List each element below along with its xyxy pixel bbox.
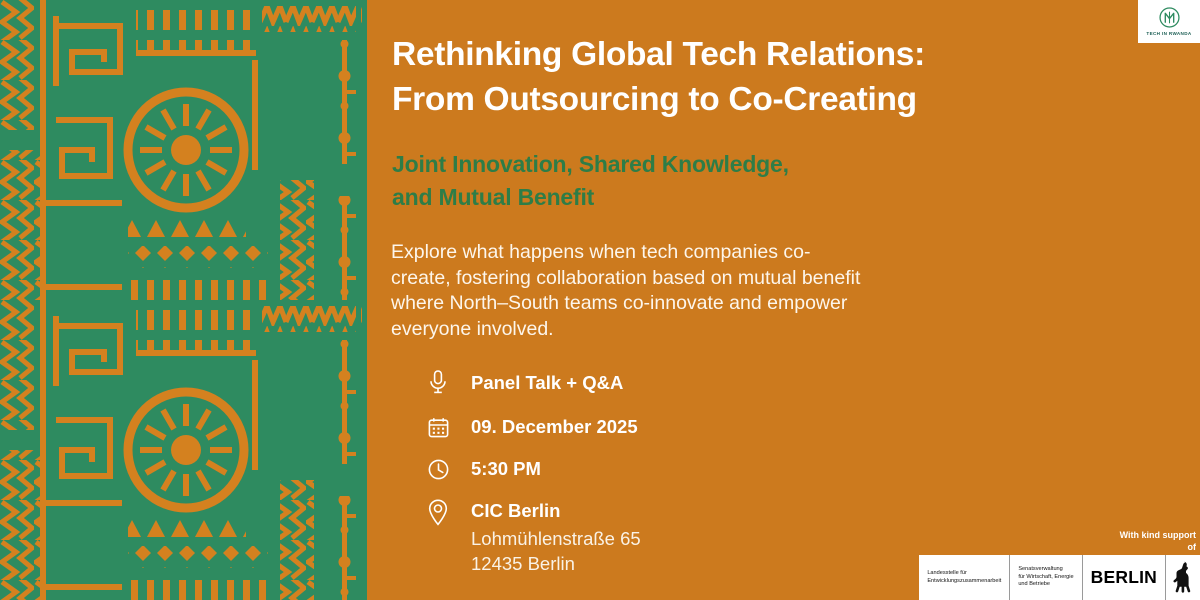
detail-text-date: 09. December 2025 bbox=[471, 412, 638, 442]
sponsor-senatsverwaltung-line-2: für Wirtschaft, Energie bbox=[1018, 574, 1073, 582]
sponsor-senatsverwaltung-line-1: Senatsverwaltung bbox=[1018, 566, 1073, 574]
event-details-list: Panel Talk + Q&A bbox=[423, 368, 641, 576]
sponsor-senatsverwaltung: Senatsverwaltung für Wirtschaft, Energie… bbox=[1010, 555, 1082, 600]
sponsor-landesstelle-line-2: Entwicklungszusammenarbeit bbox=[927, 578, 1001, 586]
subtitle-line-1: Joint Innovation, Shared Knowledge, bbox=[392, 148, 1032, 181]
detail-text-time: 5:30 PM bbox=[471, 454, 541, 484]
page-subtitle: Joint Innovation, Shared Knowledge, and … bbox=[392, 148, 1032, 214]
description-line-4: everyone involved. bbox=[391, 317, 971, 343]
pattern-artwork bbox=[0, 0, 367, 600]
berlin-bear-icon bbox=[1173, 561, 1193, 594]
african-geometric-pattern-panel bbox=[0, 0, 367, 600]
tech-in-rwanda-logo-text: TECH IN RWANDA bbox=[1146, 31, 1191, 36]
title-line-1: Rethinking Global Tech Relations: bbox=[392, 32, 1042, 77]
sponsor-landesstelle-line-1: Landesstelle für bbox=[927, 570, 1001, 578]
poster-content: Rethinking Global Tech Relations: From O… bbox=[367, 0, 1200, 600]
detail-text-format: Panel Talk + Q&A bbox=[471, 368, 623, 398]
tech-in-rwanda-logo: TECH IN RWANDA bbox=[1138, 0, 1200, 43]
tech-in-rwanda-emblem-icon bbox=[1159, 7, 1180, 28]
sponsor-senatsverwaltung-text: Senatsverwaltung für Wirtschaft, Energie… bbox=[1018, 566, 1073, 589]
sponsor-berlin-wordmark: BERLIN bbox=[1083, 555, 1166, 600]
berlin-wordmark-text: BERLIN bbox=[1091, 567, 1157, 588]
detail-text-venue: CIC Berlin Lohmühlenstraße 65 12435 Berl… bbox=[471, 496, 641, 576]
venue-name: CIC Berlin bbox=[471, 496, 641, 526]
calendar-icon bbox=[423, 412, 453, 442]
detail-row-format: Panel Talk + Q&A bbox=[423, 368, 641, 412]
detail-main-date: 09. December 2025 bbox=[471, 416, 638, 437]
title-line-2: From Outsourcing to Co-Creating bbox=[392, 77, 1042, 122]
venue-city: 12435 Berlin bbox=[471, 551, 641, 576]
sponsor-landesstelle: Landesstelle für Entwicklungszusammenarb… bbox=[919, 555, 1010, 600]
clock-icon bbox=[423, 454, 453, 484]
venue-street: Lohmühlenstraße 65 bbox=[471, 526, 641, 551]
page-title: Rethinking Global Tech Relations: From O… bbox=[392, 32, 1042, 122]
detail-row-time: 5:30 PM bbox=[423, 454, 641, 496]
sponsor-bar: Landesstelle für Entwicklungszusammenarb… bbox=[919, 555, 1200, 600]
sponsor-berlin-bear bbox=[1166, 555, 1200, 600]
description-paragraph: Explore what happens when tech companies… bbox=[391, 240, 971, 342]
support-note-line-2: of bbox=[1066, 541, 1196, 553]
description-line-1: Explore what happens when tech companies… bbox=[391, 240, 971, 266]
detail-row-date: 09. December 2025 bbox=[423, 412, 641, 454]
location-pin-icon bbox=[423, 497, 453, 527]
support-note-line-1: With kind support bbox=[1066, 529, 1196, 541]
description-line-3: where North–South teams co-innovate and … bbox=[391, 291, 971, 317]
description-line-2: create, fostering collaboration based on… bbox=[391, 266, 971, 292]
microphone-icon bbox=[423, 368, 453, 398]
detail-main-format: Panel Talk + Q&A bbox=[471, 372, 623, 393]
subtitle-line-2: and Mutual Benefit bbox=[392, 181, 1032, 214]
sponsor-landesstelle-text: Landesstelle für Entwicklungszusammenarb… bbox=[927, 570, 1001, 585]
detail-row-venue: CIC Berlin Lohmühlenstraße 65 12435 Berl… bbox=[423, 496, 641, 576]
detail-main-time: 5:30 PM bbox=[471, 458, 541, 479]
support-note: With kind support of bbox=[1066, 529, 1196, 553]
sponsor-senatsverwaltung-line-3: und Betriebe bbox=[1018, 581, 1073, 589]
